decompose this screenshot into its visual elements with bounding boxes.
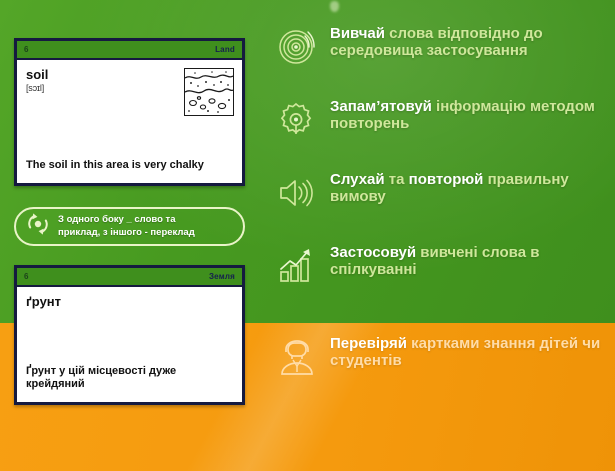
feature-item-pronunciation[interactable]: Слухай та повторюй правильну вимову [270,170,615,243]
soil-cross-section-icon [184,68,234,116]
feature-text-teacher-check: Перевіряй картками знання дітей чи студе… [330,334,615,370]
poster-canvas: 6 Land soil [sɔɪl] [0,0,615,471]
feature-item-communication[interactable]: Застосовуй вивчені слова в спілкуванні [270,243,615,316]
bar-chart-growth-icon [276,245,318,287]
flashcard-back[interactable]: 6 Земля ґрунт Ґрунт у цій місцевості дуж… [14,265,245,405]
feature-highlight-0: Вивчай [330,25,385,42]
flashcard-front-header: 6 Land [17,41,242,60]
feature-highlight-orange: Перевіряй [330,335,407,352]
feature-item-teacher-check[interactable]: Перевіряй картками знання дітей чи студе… [270,334,615,378]
feature-text-context-learning: Вивчай слова відповідно до середовища за… [330,24,615,60]
feature-text-communication: Застосовуй вивчені слова в спілкуванні [330,243,615,279]
flip-card-hint-line2: приклад, з іншого - переклад [58,227,195,238]
feature-mid-2: та [385,171,409,188]
flashcard-back-number: 6 [24,272,28,281]
flip-card-hint-text: З одного боку _ слово та приклад, з іншо… [58,214,195,240]
rotate-icon [25,211,51,242]
speaker-icon [276,172,318,214]
feature-text-pronunciation: Слухай та повторюй правильну вимову [330,170,615,206]
top-decorative-speck [330,1,339,12]
flashcard-back-category-tag: Земля [209,272,235,281]
flashcard-front-number: 6 [24,45,28,54]
flashcard-example-sentence: The soil in this area is very chalky [26,159,233,172]
feature-highlight-3: Застосовуй [330,244,416,261]
flashcard-front-category-tag: Land [215,45,235,54]
flashcard-translated-example: Ґрунт у цій місцевості дуже крейдяний [26,365,233,391]
flashcard-back-header: 6 Земля [17,268,242,287]
gear-icon [276,99,318,141]
feature-text-spaced-repetition: Запам’ятовуй інформацію методом повторен… [330,97,615,133]
feature-item-spaced-repetition[interactable]: Запам’ятовуй інформацію методом повторен… [270,97,615,170]
flashcard-back-body: ґрунт Ґрунт у цій місцевості дуже крейдя… [17,287,242,400]
flip-card-hint-badge: З одного боку _ слово та приклад, з іншо… [14,207,245,246]
flashcard-front-body: soil [sɔɪl] [17,60,242,181]
flashcard-front[interactable]: 6 Land soil [sɔɪl] [14,38,245,186]
flashcard-translation: ґрунт [26,295,233,309]
feature-highlight-2b: повторюй [409,171,484,188]
flip-card-hint-line1: З одного боку _ слово та [58,214,175,225]
feature-highlight-2a: Слухай [330,171,385,188]
feature-highlight-1: Запам’ятовуй [330,98,432,115]
feature-item-context-learning[interactable]: Вивчай слова відповідно до середовища за… [270,24,615,97]
target-radar-icon [276,26,318,68]
feature-list: Вивчай слова відповідно до середовища за… [270,24,615,316]
teacher-person-icon [276,336,318,378]
